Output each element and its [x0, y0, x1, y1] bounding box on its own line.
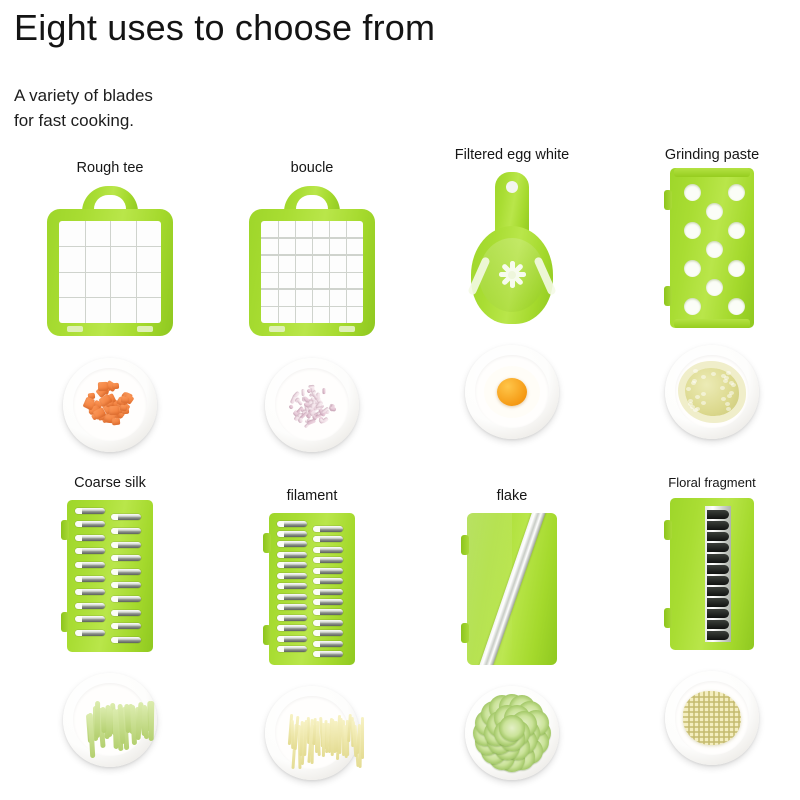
cucumber-slices-plate	[465, 686, 559, 780]
blade-label: Floral fragment	[612, 476, 800, 489]
grater-body	[670, 168, 754, 328]
wave-clip-top	[664, 520, 672, 540]
egg-separator-blade	[471, 172, 553, 324]
blade-foot-left	[269, 326, 285, 332]
wave-body	[670, 498, 754, 650]
minced-onion-plate	[265, 358, 359, 452]
food-plate-wrap	[212, 346, 412, 464]
wave-clip-bottom	[664, 608, 672, 628]
julienne-body	[269, 513, 355, 665]
blade-label: Grinding paste	[612, 148, 800, 163]
wave-cut-blade	[670, 498, 754, 650]
slicer-clip-bottom	[461, 623, 469, 643]
julienne-clip-top	[263, 533, 271, 553]
blade-image-wrap	[612, 163, 800, 333]
coarse-julienne-blade	[67, 500, 153, 652]
separator-bowl	[471, 226, 553, 324]
julienne-clip-bottom	[263, 625, 271, 645]
blade-image-wrap	[212, 176, 412, 346]
food-plate-wrap	[10, 661, 210, 779]
blade-foot-right	[137, 326, 153, 332]
egg-yolk	[465, 345, 559, 439]
blade-label: flake	[412, 489, 612, 504]
julienne-clip-bottom	[61, 612, 69, 632]
blade-cell-rough-tee[interactable]: Rough tee	[10, 148, 210, 464]
blade-image-wrap	[10, 176, 210, 346]
blade-foot-right	[339, 326, 355, 332]
diced-carrot-plate	[63, 358, 157, 452]
blade-image-wrap	[412, 163, 612, 333]
grater-holes	[670, 168, 754, 328]
subtitle-line-1: A variety of blades	[14, 84, 153, 109]
infographic-page: Eight uses to choose from A variety of b…	[0, 0, 800, 800]
fine-shreds-plate	[265, 686, 359, 780]
blade-cutting-grid	[59, 221, 161, 323]
wave-steel-strip	[705, 506, 731, 642]
julienne-teeth	[275, 521, 349, 657]
page-subtitle: A variety of blades for fast cooking.	[14, 84, 153, 133]
fine-julienne-blade	[269, 513, 355, 665]
blade-image-wrap	[412, 504, 612, 674]
blade-cell-grinding-paste[interactable]: Grinding paste	[612, 148, 800, 451]
waffle-cut-potato-plate	[665, 671, 759, 765]
thick-julienne-plate	[63, 673, 157, 767]
blade-cell-coarse-silk[interactable]: Coarse silk	[10, 476, 210, 779]
blade-foot-left	[67, 326, 83, 332]
page-title: Eight uses to choose from	[14, 6, 435, 49]
blade-image-wrap	[612, 489, 800, 659]
julienne-teeth	[73, 508, 147, 644]
blade-label: filament	[212, 489, 412, 504]
blade-cell-flake[interactable]: flake	[412, 476, 612, 792]
blade-image-wrap	[212, 504, 412, 674]
blade-frame	[249, 209, 375, 336]
diagonal-slicer-blade	[467, 513, 557, 665]
food-plate-wrap	[612, 333, 800, 451]
grater-clip-bottom	[664, 286, 672, 306]
food-plate-wrap	[10, 346, 210, 464]
paste-mound	[685, 368, 739, 416]
separator-hub	[508, 271, 516, 279]
slicer-clip-top	[461, 535, 469, 555]
blade-cell-filament[interactable]: filament	[212, 476, 412, 792]
grid-dicer-coarse-blade	[47, 186, 173, 336]
food-plate-wrap	[412, 674, 612, 792]
ginger-paste-plate	[665, 345, 759, 439]
hang-hole	[506, 181, 518, 193]
blade-image-wrap	[10, 491, 210, 661]
egg-yolk-plate	[465, 345, 559, 439]
blade-frame	[47, 209, 173, 336]
waffle-potato	[665, 671, 759, 765]
blade-label: Rough tee	[10, 161, 210, 176]
food-plate-wrap	[412, 333, 612, 451]
blade-label: Coarse silk	[10, 476, 210, 491]
blade-cell-boucle[interactable]: boucle	[212, 148, 412, 464]
grid-dicer-fine-blade	[249, 186, 375, 336]
blade-cell-floral-fragment[interactable]: Floral fragment	[612, 476, 800, 777]
ginger-paste	[665, 345, 759, 439]
yolk-dome	[497, 378, 527, 406]
blade-cell-filtered-egg-white[interactable]: Filtered egg white	[412, 148, 612, 451]
food-plate-wrap	[612, 659, 800, 777]
blade-label: Filtered egg white	[412, 148, 612, 163]
grater-clip-top	[664, 190, 672, 210]
slicer-body	[467, 513, 557, 665]
waffle-lattice	[683, 691, 741, 745]
subtitle-line-2: for fast cooking.	[14, 109, 153, 134]
blade-label: boucle	[212, 161, 412, 176]
blade-cutting-grid	[261, 221, 363, 323]
perforated-grater-blade	[670, 168, 754, 328]
julienne-clip-top	[61, 520, 69, 540]
julienne-body	[67, 500, 153, 652]
food-plate-wrap	[212, 674, 412, 792]
